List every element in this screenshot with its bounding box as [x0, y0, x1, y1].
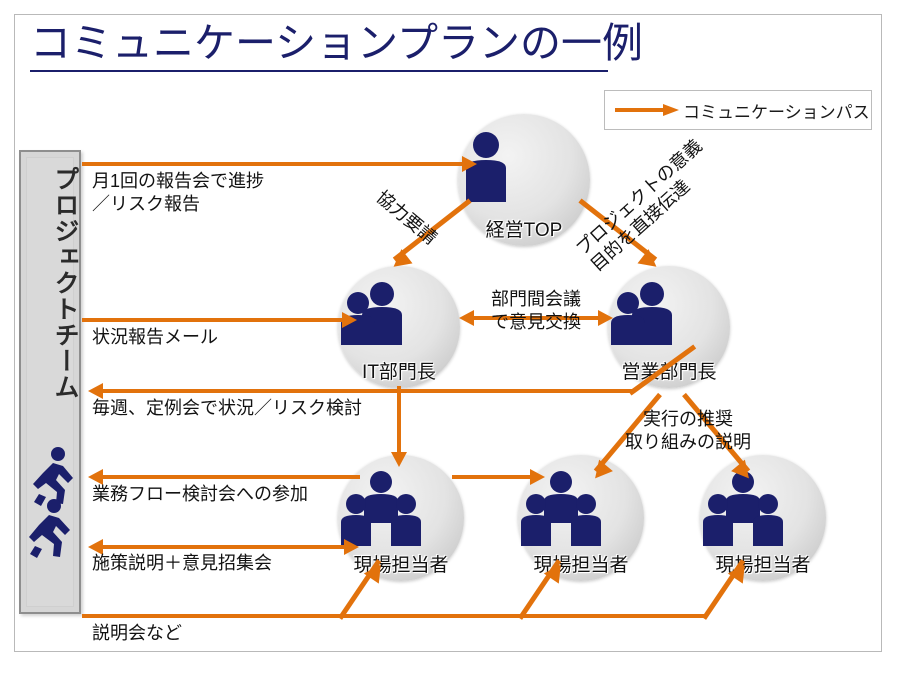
edge-label-sales-to-team: 毎週、定例会で状況／リスク検討: [92, 397, 362, 420]
edge-team-to-top-head: [462, 156, 477, 172]
node-label: 現場担当者: [308, 550, 494, 577]
project-team-panel: プロジェクトチーム: [19, 150, 81, 614]
edge-field-to-team-flow-line: [98, 475, 360, 479]
edge-team-to-it-head: [342, 312, 357, 328]
edge-team-to-top-line: [82, 162, 464, 166]
edge-label-team-field-policy: 施策説明＋意見招集会: [92, 552, 272, 575]
title-underline: [30, 70, 608, 72]
node-field-1[interactable]: 現場担当者: [338, 455, 464, 581]
edge-label-sales-to-fields: 実行の推奨取り組みの説明: [608, 408, 768, 453]
edge-it-sales-head-left: [459, 310, 474, 326]
edge-field1-to-field2-line: [452, 475, 532, 479]
arrow-right-icon: [615, 104, 681, 116]
project-team-label: プロジェクトチーム: [21, 166, 83, 400]
edge-briefing-bus-line: [82, 614, 706, 618]
node-exec-top[interactable]: 経営TOP: [458, 114, 590, 246]
edge-label-team-to-it: 状況報告メール: [92, 326, 218, 349]
edge-sales-to-team-line: [98, 389, 632, 393]
page-title: コミュニケーションプランの一例: [30, 22, 643, 65]
edge-label-team-to-top: 月1回の報告会で進捗／リスク報告: [92, 170, 264, 215]
edge-label-it-sales: 部門間会議で意見交換: [476, 288, 596, 333]
edge-label-field-to-team-flow: 業務フロー検討会への参加: [92, 483, 308, 506]
legend-box: コミュニケーションパス: [604, 90, 872, 130]
edge-team-to-it-line: [82, 318, 344, 322]
edge-it-to-field1-line: [397, 386, 401, 458]
edge-team-field-policy-line: [98, 545, 346, 549]
node-field-3[interactable]: 現場担当者: [700, 455, 826, 581]
edge-field1-to-field2-head: [530, 469, 545, 485]
edge-label-briefing: 説明会など: [92, 622, 182, 645]
edge-team-field-policy-head-right: [344, 539, 359, 555]
two-people-icon: [608, 281, 680, 347]
node-label: 現場担当者: [488, 550, 674, 577]
slide-canvas: コミュニケーションプランの一例 コミュニケーションパス プロジェクトチーム 経営…: [0, 0, 900, 673]
node-sales-head[interactable]: 営業部門長: [608, 266, 730, 388]
legend-label: コミュニケーションパス: [683, 98, 870, 123]
edge-it-to-field1-head: [391, 452, 407, 467]
node-label: IT部門長: [308, 357, 490, 384]
running-people-icon: [27, 444, 79, 564]
node-label: 現場担当者: [670, 550, 856, 577]
edge-it-sales-head-right: [598, 310, 613, 326]
